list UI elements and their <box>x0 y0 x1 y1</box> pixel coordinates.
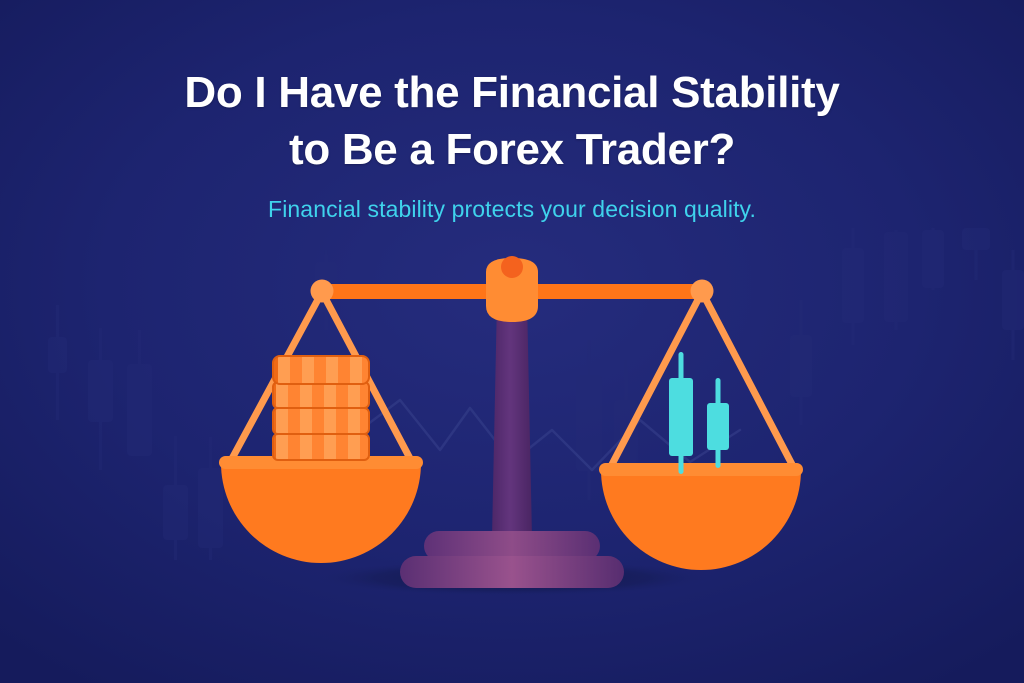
page-title-line-1: Do I Have the Financial Stability <box>0 64 1024 121</box>
page-title-line-2: to Be a Forex Trader? <box>0 121 1024 178</box>
candlestick-group <box>669 352 729 474</box>
hero-banner: Do I Have the Financial Stability to Be … <box>0 0 1024 683</box>
base-tier-lower <box>400 556 624 588</box>
beam-end-knob-left <box>311 280 334 303</box>
page-subtitle: Financial stability protects your decisi… <box>0 196 1024 223</box>
left-pan <box>219 456 423 563</box>
page-title: Do I Have the Financial Stability to Be … <box>0 64 1024 178</box>
candle-tall <box>669 352 693 474</box>
coin-stack <box>273 356 370 460</box>
candle-short <box>707 378 729 468</box>
right-hanger-strings <box>608 292 796 472</box>
right-pan <box>599 463 803 570</box>
headline-block: Do I Have the Financial Stability to Be … <box>0 0 1024 223</box>
scale-column <box>492 300 532 537</box>
beam-end-knob-right <box>691 280 714 303</box>
pivot-finial-icon <box>501 256 523 278</box>
